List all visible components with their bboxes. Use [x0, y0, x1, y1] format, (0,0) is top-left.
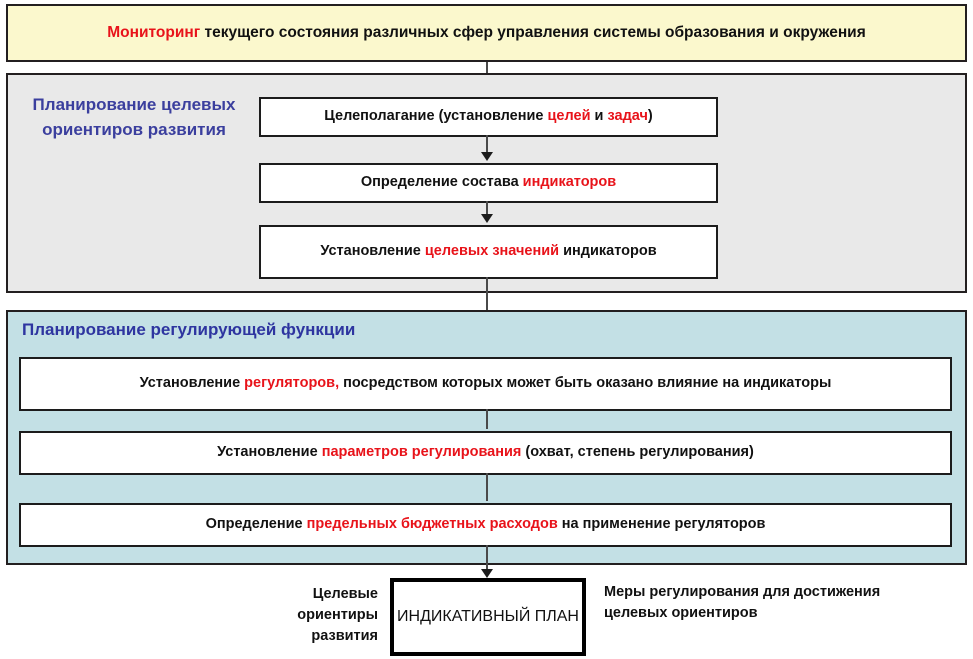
- regulating-section-title: Планирование регулирующей функции: [22, 320, 355, 340]
- arrowhead-goal-to-compose: [481, 152, 493, 161]
- params-text-1: Установление: [217, 444, 322, 460]
- diagram-canvas: Мониторинг текущего состояния различных …: [0, 0, 973, 659]
- box-regulation-parameters: Установление параметров регулирования (о…: [19, 431, 952, 475]
- monitoring-title-highlight: Мониторинг: [107, 24, 200, 41]
- box-regulators: Установление регуляторов, посредством ко…: [19, 357, 952, 411]
- goal-text-3: и: [591, 108, 608, 124]
- caption-target-guidelines: Целевые ориентиры развития: [240, 584, 378, 647]
- connector-regulating-to-plan: [486, 545, 488, 571]
- box-indicative-plan-label: ИНДИКАТИВНЫЙ ПЛАН: [397, 606, 579, 628]
- box-indicative-plan: ИНДИКАТИВНЫЙ ПЛАН: [390, 578, 586, 656]
- box-target-values-text: Установление целевых значений индикаторо…: [320, 242, 656, 262]
- monitoring-title-rest: текущего состояния различных сфер управл…: [200, 24, 866, 41]
- box-regulation-parameters-text: Установление параметров регулирования (о…: [217, 443, 754, 463]
- planning-section-title: Планирование целевых ориентиров развития: [22, 93, 246, 142]
- box-target-values: Установление целевых значений индикаторо…: [259, 225, 718, 279]
- values-text-2: целевых значений: [425, 243, 559, 259]
- connector-params-to-budget: [486, 473, 488, 501]
- regulating-panel: Планирование регулирующей функции Устано…: [6, 310, 967, 565]
- budget-text-2: предельных бюджетных расходов: [307, 516, 558, 532]
- values-text-3: индикаторов: [559, 243, 657, 259]
- monitoring-title: Мониторинг текущего состояния различных …: [107, 23, 866, 44]
- budget-text-1: Определение: [206, 516, 307, 532]
- params-text-2: параметров регулирования: [322, 444, 522, 460]
- goal-text-2: целей: [548, 108, 591, 124]
- arrowhead-compose-to-values: [481, 214, 493, 223]
- compose-text-1: Определение состава: [361, 174, 523, 190]
- caption-regulation-measures: Меры регулирования для достижения целевы…: [604, 582, 884, 624]
- box-indicator-composition: Определение состава индикаторов: [259, 163, 718, 203]
- goal-text-1: Целеполагание (установление: [324, 108, 547, 124]
- reg-text-2: регуляторов,: [244, 375, 339, 391]
- reg-text-1: Установление: [140, 375, 245, 391]
- goal-text-5: ): [648, 108, 653, 124]
- goal-text-4: задач: [607, 108, 647, 124]
- box-budget-limits: Определение предельных бюджетных расходо…: [19, 503, 952, 547]
- monitoring-panel: Мониторинг текущего состояния различных …: [6, 4, 967, 62]
- box-regulators-text: Установление регуляторов, посредством ко…: [140, 374, 832, 394]
- box-goal-setting: Целеполагание (установление целей и зада…: [259, 97, 718, 137]
- box-budget-limits-text: Определение предельных бюджетных расходо…: [206, 515, 766, 535]
- compose-text-2: индикаторов: [523, 174, 617, 190]
- box-goal-setting-text: Целеполагание (установление целей и зада…: [324, 107, 652, 127]
- arrowhead-regulating-to-plan: [481, 569, 493, 578]
- values-text-1: Установление: [320, 243, 425, 259]
- reg-text-3: посредством которых может быть оказано в…: [339, 375, 831, 391]
- box-indicator-composition-text: Определение состава индикаторов: [361, 173, 616, 193]
- connector-regulators-to-params: [486, 409, 488, 429]
- params-text-3: (охват, степень регулирования): [521, 444, 753, 460]
- budget-text-3: на применение регуляторов: [558, 516, 766, 532]
- planning-panel: Планирование целевых ориентиров развития…: [6, 73, 967, 293]
